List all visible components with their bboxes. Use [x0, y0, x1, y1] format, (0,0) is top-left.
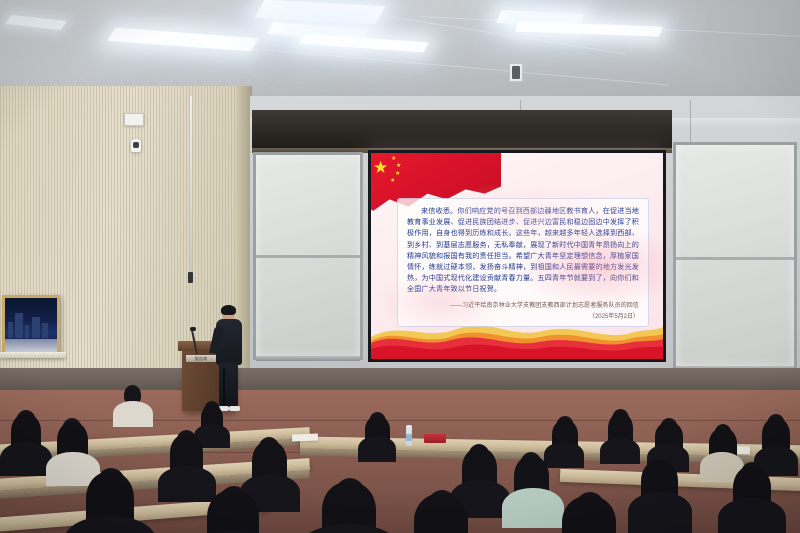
slide-body-text: 来信收悉。你们响应党的号召到西部边疆地区教书育人，在促进当地教育事业发展、促进民… [407, 206, 639, 296]
speaker-leg-gap [223, 368, 225, 408]
water-bottle [406, 425, 412, 446]
wall-shelf [0, 352, 66, 358]
audience-shoulders [358, 436, 396, 462]
whiteboard-panel-split [676, 257, 794, 260]
framed-picture [2, 295, 60, 355]
picture-image [5, 298, 57, 352]
whiteboard-tray [256, 356, 360, 361]
bottle-label [406, 434, 412, 441]
speaker-legs [219, 363, 238, 409]
audience-shoulders [0, 442, 52, 476]
whiteboard-left[interactable] [253, 152, 363, 360]
audience-shoulders [158, 466, 216, 502]
security-camera-icon [131, 139, 141, 152]
speaker-hair [221, 305, 236, 315]
audience-hair [207, 490, 259, 533]
slide-text-card: 来信收悉。你们响应党的号召到西部边疆地区教书育人，在促进当地教育事业发展、促进民… [397, 198, 649, 327]
speaker-shoe [229, 406, 240, 411]
lecture-hall-photo: ★ ★ ★ ★ ★ 来信收悉。你们响应党的号召到西部边疆地区教书育人，在促进当地… [0, 0, 800, 533]
audience-shoulders [600, 438, 640, 464]
wall-speaker-icon [509, 63, 523, 82]
podium-nameplate: 报告席 [186, 355, 216, 362]
microphone-icon [190, 327, 196, 331]
wall-control-panel[interactable] [124, 113, 144, 126]
flag-star: ★ [396, 163, 401, 169]
led-display-screen[interactable]: ★ ★ ★ ★ ★ 来信收悉。你们响应党的号召到西部边疆地区教书育人，在促进当地… [368, 150, 666, 362]
slide-date: （2025年5月2日） [407, 311, 639, 320]
led-slide-content: ★ ★ ★ ★ ★ 来信收悉。你们响应党的号召到西部边疆地区教书育人，在促进当地… [371, 153, 663, 359]
projector-mount [188, 272, 193, 283]
flag-star: ★ [391, 156, 396, 162]
slide-paragraph: 来信收悉。你们响应党的号召到西部边疆地区教书育人，在促进当地教育事业发展、促进民… [407, 207, 639, 293]
audience-shoulders [718, 498, 786, 533]
paper-sheet [292, 434, 318, 442]
slide-signature: ——习近平给南京林业大学支教团支教西部计划志愿者服务队员的回信 [407, 300, 639, 309]
flag-star: ★ [395, 171, 400, 177]
audience-shoulders [544, 442, 584, 468]
whiteboard-right[interactable] [673, 142, 797, 370]
flag-star: ★ [390, 178, 395, 184]
whiteboard-panel-split [256, 255, 360, 258]
projector-drop-pole [190, 96, 192, 274]
audience-shoulders [502, 488, 564, 528]
audience-shoulders [628, 492, 692, 533]
screen-header-band [252, 110, 672, 152]
red-book-item [424, 434, 446, 443]
flag-star: ★ [373, 159, 388, 176]
audience-shoulders [113, 401, 153, 427]
speaker-person [214, 306, 244, 411]
